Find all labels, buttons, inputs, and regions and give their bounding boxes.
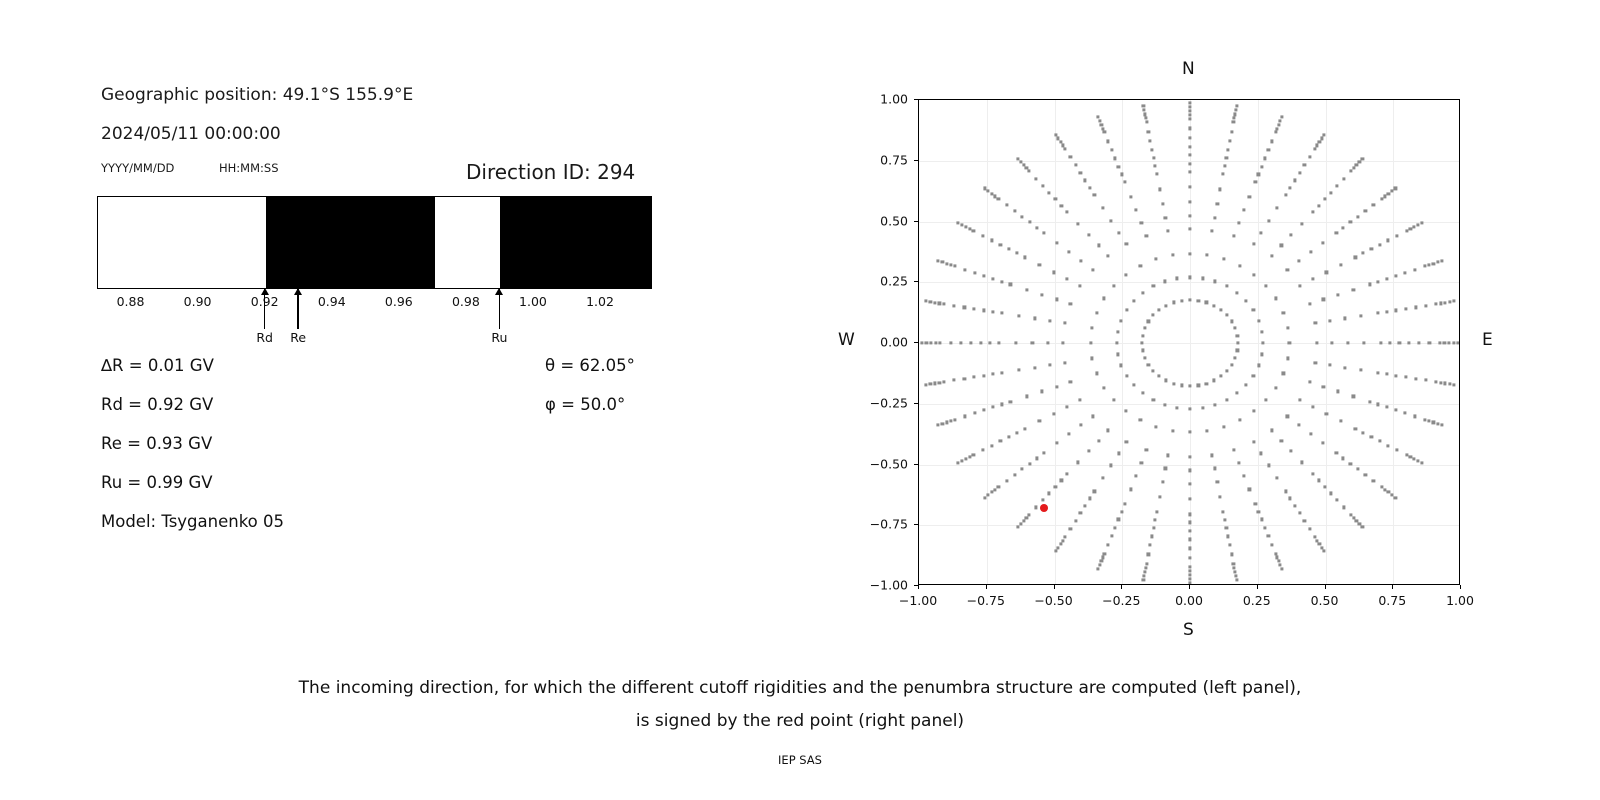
sky-grid-point [1372, 203, 1375, 206]
sky-grid-point [953, 304, 956, 307]
sky-grid-point [1188, 469, 1191, 472]
sky-grid-point [1257, 510, 1260, 513]
sky-grid-point [938, 381, 941, 384]
sky-grid-point [929, 300, 932, 303]
sky-grid-point [1163, 280, 1166, 283]
sky-grid-point [1143, 570, 1146, 573]
sky-grid-point [964, 458, 967, 461]
sky-grid-point [933, 301, 936, 304]
sky-grid-point [1142, 578, 1145, 581]
sky-grid-point [1244, 384, 1247, 387]
sky-grid-point [1054, 550, 1057, 553]
sky-grid-point [1236, 349, 1239, 352]
sky-grid-point [1308, 156, 1311, 159]
y-axis-tick-label: 0.25 [850, 274, 908, 289]
y-axis-tick-label: 1.00 [850, 92, 908, 107]
sky-grid-point [1436, 422, 1439, 425]
sky-grid-point [1219, 188, 1222, 191]
y-axis-tick [914, 585, 918, 586]
sky-grid-point [1225, 314, 1228, 317]
sky-grid-point [1362, 341, 1365, 344]
datetime-label: 2024/05/11 00:00:00 [101, 124, 281, 144]
sky-grid-point [1213, 403, 1216, 406]
compass-label-east: E [1482, 330, 1493, 350]
sky-grid-point [1219, 308, 1222, 311]
sky-grid-point [1152, 526, 1155, 529]
sky-grid-point [1230, 553, 1233, 556]
sky-grid-point [1216, 202, 1219, 205]
sky-grid-point [1228, 544, 1231, 547]
sky-grid-point [1252, 309, 1255, 312]
sky-grid-point [1117, 165, 1120, 168]
sky-grid-point [1123, 502, 1126, 505]
sky-grid-point [936, 424, 939, 427]
sky-grid-point [1226, 535, 1229, 538]
penumbra-tick-label: 0.98 [452, 294, 480, 309]
sky-grid-point [1157, 308, 1160, 311]
sky-grid-point [991, 373, 994, 376]
sky-grid-point [1197, 384, 1200, 387]
sky-grid-point [1423, 265, 1426, 268]
sky-grid-point [1060, 479, 1063, 482]
sky-grid-point [924, 300, 927, 303]
sky-grid-point [1015, 341, 1018, 344]
sky-grid-point [1228, 139, 1231, 142]
sky-grid-point [1213, 467, 1216, 470]
sky-grid-point [942, 302, 945, 305]
x-axis-tick-label: −0.25 [1102, 593, 1140, 608]
sky-grid-point [1409, 227, 1412, 230]
sky-grid-point [933, 382, 936, 385]
sky-grid-point [999, 440, 1002, 443]
sky-grid-point [968, 227, 971, 230]
sky-grid-point [1421, 221, 1424, 224]
sky-grid-point [1009, 400, 1012, 403]
sky-grid-point [1016, 526, 1019, 529]
sky-grid-point [1237, 341, 1240, 344]
x-axis-tick [1121, 585, 1122, 589]
sky-grid-point [1254, 502, 1257, 505]
y-axis-tick-label: −0.75 [850, 517, 908, 532]
sky-grid-point [1110, 219, 1113, 222]
sky-grid-point [1443, 382, 1446, 385]
sky-grid-point [1163, 403, 1166, 406]
sky-grid-point [1143, 327, 1146, 330]
sky-grid-point [991, 310, 994, 313]
sky-grid-point [1152, 314, 1155, 317]
sky-grid-point [1349, 221, 1352, 224]
sky-grid-point [1164, 467, 1167, 470]
compass-label-south: S [1183, 620, 1194, 640]
sky-grid-point [1342, 506, 1345, 509]
sky-grid-point [1309, 251, 1312, 254]
sky-grid-point [1396, 449, 1399, 452]
sky-grid-point [934, 341, 937, 344]
sky-grid-point [983, 187, 986, 190]
sky-grid-point [1000, 403, 1003, 406]
sky-grid-point [1035, 457, 1038, 460]
sky-grid-point [1311, 278, 1314, 281]
sky-grid-point [1387, 444, 1390, 447]
sky-grid-point [1211, 229, 1214, 232]
sky-grid-point [1377, 312, 1380, 315]
sky-grid-point [1041, 499, 1044, 502]
sky-grid-point [1270, 254, 1273, 257]
sky-grid-point [1413, 458, 1416, 461]
sky-grid-point [1088, 497, 1091, 500]
sky-grid-point [1280, 439, 1283, 442]
sky-grid-point [1145, 234, 1148, 237]
gridline-vertical [1326, 100, 1327, 584]
sky-grid-point [1152, 398, 1155, 401]
sky-grid-point [972, 454, 975, 457]
date-format-hint: YYYY/MM/DD [101, 161, 174, 175]
sky-grid-point [1025, 516, 1028, 519]
sky-grid-point [1197, 299, 1200, 302]
sky-grid-point [1233, 566, 1236, 569]
sky-grid-point [1417, 460, 1420, 463]
sky-grid-point [1069, 527, 1072, 530]
sky-grid-point [1355, 164, 1358, 167]
sky-grid-point [1188, 430, 1191, 433]
sky-grid-point [1286, 415, 1289, 418]
sky-grid-point [983, 274, 986, 277]
y-axis-tick [914, 464, 918, 465]
sky-grid-point [1176, 406, 1179, 409]
sky-grid-point [969, 341, 972, 344]
sky-grid-point [1116, 353, 1119, 356]
sky-grid-point [1015, 252, 1018, 255]
sky-grid-point [1091, 326, 1094, 329]
stat-left-3: Ru = 0.99 GV [101, 473, 213, 492]
sky-grid-point [938, 302, 941, 305]
sky-grid-point [1280, 567, 1283, 570]
sky-grid-point [990, 239, 993, 242]
sky-grid-point [1125, 309, 1128, 312]
sky-grid-point [1145, 449, 1148, 452]
sky-grid-point [1257, 319, 1260, 322]
sky-grid-point [1435, 380, 1438, 383]
sky-grid-point [987, 493, 990, 496]
penumbra-tick-label: 0.96 [385, 294, 413, 309]
sky-grid-point [1339, 419, 1342, 422]
sky-grid-point [1377, 371, 1380, 374]
sky-grid-point [983, 496, 986, 499]
sky-grid-point [1225, 156, 1228, 159]
sky-grid-point [1395, 309, 1398, 312]
sky-grid-point [1405, 229, 1408, 232]
sky-grid-point [1254, 180, 1257, 183]
penumbra-band-bar [97, 196, 652, 289]
sky-grid-point [1040, 293, 1043, 296]
sky-grid-point [1188, 529, 1191, 532]
sky-grid-point [1188, 497, 1191, 500]
sky-grid-point [1102, 386, 1105, 389]
stat-left-1: Rd = 0.92 GV [101, 395, 213, 414]
sky-grid-point [1318, 140, 1321, 143]
sky-grid-point [1164, 379, 1167, 382]
sky-grid-point [1110, 534, 1113, 537]
sky-grid-point [941, 422, 944, 425]
sky-grid-point [1065, 405, 1068, 408]
sky-grid-point [1042, 231, 1045, 234]
sky-grid-point [1144, 117, 1147, 120]
sky-grid-point [1021, 215, 1024, 218]
penumbra-tick-label: 1.02 [586, 294, 614, 309]
sky-grid-point [1404, 412, 1407, 415]
sky-grid-point [1232, 562, 1235, 565]
sky-grid-point [938, 341, 941, 344]
sky-grid-point [1336, 293, 1339, 296]
sky-grid-point [1132, 384, 1135, 387]
sky-grid-point [1358, 160, 1361, 163]
sky-grid-point [1025, 167, 1028, 170]
sky-grid-point [1267, 148, 1270, 151]
sky-grid-point [1188, 117, 1191, 120]
sky-grid-point [1260, 518, 1263, 521]
sky-grid-point [1123, 180, 1126, 183]
sky-grid-point [1211, 454, 1214, 457]
sky-grid-point [936, 259, 939, 262]
sky-grid-point [1079, 511, 1082, 514]
sky-grid-point [1143, 109, 1146, 112]
sky-grid-point [1284, 490, 1287, 493]
sky-grid-point [1188, 109, 1191, 112]
y-axis-tick [914, 342, 918, 343]
sky-grid-point [1238, 264, 1241, 267]
sky-grid-point [1242, 474, 1245, 477]
sky-grid-point [1361, 526, 1364, 529]
geographic-position-label: Geographic position: 49.1°S 155.9°E [101, 85, 413, 105]
sky-grid-point [1132, 299, 1135, 302]
sky-grid-point [1166, 229, 1169, 232]
y-axis-tick-label: −1.00 [850, 578, 908, 593]
sky-grid-point [1237, 222, 1240, 225]
sky-grid-point [1188, 170, 1191, 173]
right-panel: −1.00−0.75−0.50−0.250.000.250.500.751.00… [800, 0, 1600, 660]
sky-grid-point [1417, 341, 1420, 344]
x-axis-tick-label: −0.50 [1034, 593, 1072, 608]
sky-grid-point [1237, 461, 1240, 464]
sky-grid-point [1360, 314, 1363, 317]
sky-grid-point [1005, 203, 1008, 206]
sky-grid-point [1022, 164, 1025, 167]
sky-grid-point [1223, 165, 1226, 168]
sky-grid-point [1041, 184, 1044, 187]
sky-grid-point [1260, 165, 1263, 168]
sky-grid-point [1031, 341, 1034, 344]
sky-grid-point [1370, 435, 1373, 438]
sky-grid-point [1035, 506, 1038, 509]
sky-grid-point [1139, 419, 1142, 422]
sky-grid-point [1091, 415, 1094, 418]
sky-grid-point [924, 383, 927, 386]
x-axis-tick-label: 0.75 [1378, 593, 1406, 608]
y-axis-tick-label: −0.50 [850, 456, 908, 471]
sky-grid-point [1286, 357, 1289, 360]
sky-grid-point [1275, 206, 1278, 209]
sky-grid-point [1143, 574, 1146, 577]
sky-grid-point [1206, 254, 1209, 257]
selected-direction-point [1040, 504, 1048, 512]
stat-right-0: θ = 62.05° [545, 356, 635, 375]
compass-label-north: N [1182, 59, 1195, 79]
sky-grid-point [1356, 468, 1359, 471]
sky-grid-point [1097, 567, 1100, 570]
sky-grid-point [1379, 341, 1382, 344]
sky-grid-point [1322, 385, 1325, 388]
sky-grid-point [1171, 254, 1174, 257]
sky-grid-point [990, 192, 993, 195]
sky-grid-point [1100, 560, 1103, 563]
sky-grid-point [1274, 386, 1277, 389]
sky-grid-point [982, 309, 985, 312]
sky-grid-point [1140, 461, 1143, 464]
sky-grid-point [1260, 353, 1263, 356]
gridline-vertical [1055, 100, 1056, 584]
sky-grid-point [1313, 147, 1316, 150]
sky-grid-point [1336, 499, 1339, 502]
credit-label: IEP SAS [0, 753, 1600, 767]
sky-grid-point [1329, 191, 1332, 194]
sky-grid-point [1015, 431, 1018, 434]
sky-grid-point [1117, 231, 1120, 234]
sky-grid-point [1069, 302, 1072, 305]
sky-grid-point [1252, 410, 1255, 413]
sky-grid-point [1145, 562, 1148, 565]
x-axis-tick-label: 0.50 [1311, 593, 1339, 608]
sky-grid-point [1172, 382, 1175, 385]
sky-grid-point [942, 380, 945, 383]
sky-grid-point [1028, 221, 1031, 224]
sky-grid-point [1274, 297, 1277, 300]
sky-grid-point [1188, 547, 1191, 550]
sky-grid-point [1013, 209, 1016, 212]
sky-grid-point [1317, 204, 1320, 207]
sky-grid-point [1414, 377, 1417, 380]
sky-grid-point [963, 306, 966, 309]
sky-grid-point [1042, 452, 1045, 455]
sky-grid-point [1413, 225, 1416, 228]
sky-grid-point [1147, 130, 1150, 133]
sky-grid-point [1038, 419, 1041, 422]
sky-grid-point [1394, 409, 1397, 412]
sky-grid-point [1413, 268, 1416, 271]
sky-grid-point [1297, 260, 1300, 263]
sky-grid-point [1344, 317, 1347, 320]
sky-map-plot-area [918, 99, 1460, 585]
sky-grid-point [1316, 341, 1319, 344]
sky-grid-point [1061, 144, 1064, 147]
sky-grid-point [973, 271, 976, 274]
sky-grid-point [953, 379, 956, 382]
sky-grid-point [1335, 452, 1338, 455]
gridline-horizontal [919, 465, 1459, 466]
sky-grid-point [1288, 186, 1291, 189]
sky-grid-point [1362, 252, 1365, 255]
sky-grid-point [1205, 382, 1208, 385]
sky-grid-point [953, 418, 956, 421]
sky-grid-point [1097, 115, 1100, 118]
sky-grid-point [1116, 330, 1119, 333]
sky-grid-point [1212, 379, 1215, 382]
sky-grid-point [1023, 427, 1026, 430]
stat-right-1: φ = 50.0° [545, 395, 625, 414]
penumbra-marker-label-Rd: Rd [256, 330, 273, 345]
sky-grid-point [1233, 117, 1236, 120]
sky-grid-point [949, 341, 952, 344]
sky-grid-point [1007, 435, 1010, 438]
sky-grid-point [1385, 373, 1388, 376]
sky-grid-point [1171, 429, 1174, 432]
sky-grid-point [1188, 145, 1191, 148]
sky-grid-point [973, 307, 976, 310]
sky-grid-point [1055, 298, 1058, 301]
sky-grid-point [1311, 210, 1314, 213]
sky-grid-point [1264, 284, 1267, 287]
sky-grid-point [1288, 497, 1291, 500]
sky-grid-point [1385, 277, 1388, 280]
sky-grid-point [1149, 544, 1152, 547]
sky-grid-point [1275, 476, 1278, 479]
sky-grid-point [1188, 578, 1191, 581]
sky-grid-point [1267, 534, 1270, 537]
sky-grid-point [1089, 341, 1092, 344]
sky-grid-point [1048, 191, 1051, 194]
sky-grid-point [1222, 173, 1225, 176]
sky-grid-point [1219, 374, 1222, 377]
sky-grid-point [1308, 380, 1311, 383]
penumbra-band-forbidden [500, 197, 652, 288]
sky-grid-point [1439, 302, 1442, 305]
sky-grid-point [1188, 136, 1191, 139]
sky-grid-point [1000, 280, 1003, 283]
sky-grid-point [1279, 563, 1282, 566]
sky-grid-point [1069, 156, 1072, 159]
sky-grid-point [1322, 133, 1325, 136]
gridline-vertical [1393, 100, 1394, 584]
sky-grid-point [1125, 440, 1128, 443]
sky-grid-point [1360, 368, 1363, 371]
sky-grid-point [1017, 368, 1020, 371]
sky-grid-point [1188, 385, 1191, 388]
sky-grid-point [1284, 193, 1287, 196]
sky-grid-point [1223, 518, 1226, 521]
sky-grid-point [1394, 496, 1397, 499]
x-axis-tick [1189, 585, 1190, 589]
sky-grid-point [1188, 574, 1191, 577]
sky-grid-point [1311, 473, 1314, 476]
sky-grid-point [949, 263, 952, 266]
sky-grid-point [1000, 371, 1003, 374]
sky-grid-point [1201, 406, 1204, 409]
sky-grid-point [1102, 297, 1105, 300]
sky-grid-point [1238, 419, 1241, 422]
sky-grid-point [1424, 379, 1427, 382]
sky-grid-point [920, 341, 923, 344]
sky-grid-point [1117, 452, 1120, 455]
sky-grid-point [1335, 231, 1338, 234]
sky-grid-point [973, 376, 976, 379]
sky-grid-point [1065, 278, 1068, 281]
sky-grid-point [1158, 495, 1161, 498]
sky-grid-point [1378, 243, 1381, 246]
sky-grid-point [1188, 127, 1191, 130]
sky-grid-point [1101, 206, 1104, 209]
sky-grid-point [1125, 374, 1128, 377]
sky-grid-point [1164, 304, 1167, 307]
sky-grid-point [1009, 283, 1012, 286]
